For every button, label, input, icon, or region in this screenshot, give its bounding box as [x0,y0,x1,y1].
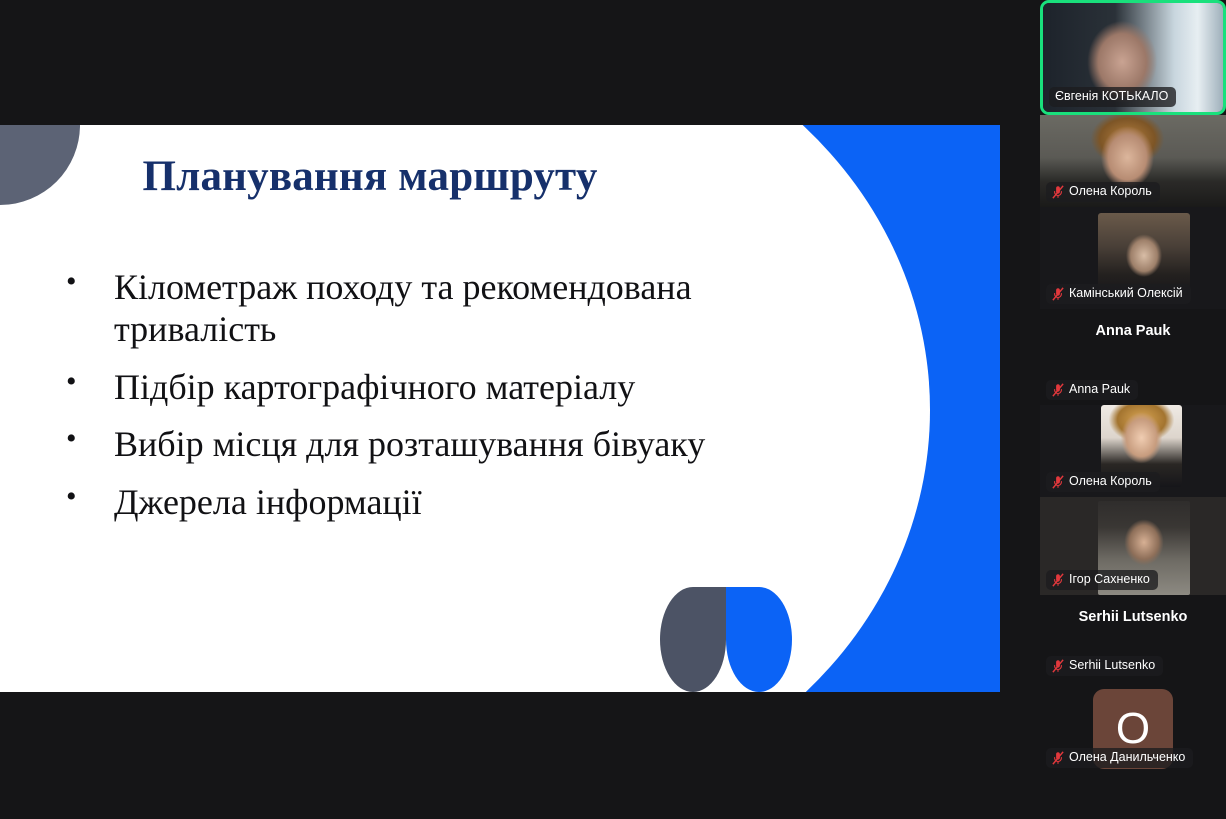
participant-name: Олена Король [1069,184,1152,199]
participant-name: Serhii Lutsenko [1069,658,1155,673]
zoom-meeting-window: Планування маршруту Кілометраж походу та… [0,0,1226,819]
participant-name-pill: Олена Король [1046,182,1160,202]
participant-name: Anna Pauk [1069,382,1130,397]
slide-bullet-list: Кілометраж походу та рекомендована трива… [58,267,858,540]
participant-name-pill: Serhii Lutsenko [1046,656,1163,676]
participant-tile-anna-pauk[interactable]: Anna Pauk Anna Pauk [1040,309,1226,405]
participant-name-pill: Євгенія КОТЬКАЛО [1049,87,1176,107]
slide-bullet-item: Підбір картографічного матеріалу [58,367,858,409]
mic-muted-icon [1052,573,1064,587]
participant-name: Олена Данильченко [1069,750,1185,765]
participant-tile-serhii-lutsenko[interactable]: Serhii Lutsenko Serhii Lutsenko [1040,595,1226,681]
participant-name-pill: Олена Король [1046,472,1160,492]
slide-title: Планування маршруту [0,152,1000,201]
participant-filmstrip[interactable]: Євгенія КОТЬКАЛО Олена Король [1040,0,1226,819]
mic-muted-icon [1052,383,1064,397]
participant-name: Євгенія КОТЬКАЛО [1055,89,1168,104]
participant-tile-evgeniia-kotkalo[interactable]: Євгенія КОТЬКАЛО [1040,0,1226,115]
participant-name-pill: Камінський Олексій [1046,284,1191,304]
participant-centre-name: Anna Pauk [1040,323,1226,339]
mic-muted-icon [1052,185,1064,199]
mic-muted-icon [1052,751,1064,765]
video-feed [1098,213,1190,295]
participant-name-pill: Олена Данильченко [1046,748,1193,768]
participant-tile-olena-danylchenko[interactable]: О Олена Данильченко [1040,681,1226,773]
mic-muted-icon [1052,287,1064,301]
presentation-slide: Планування маршруту Кілометраж походу та… [0,125,1000,692]
slide-content: Планування маршруту Кілометраж походу та… [0,125,1000,692]
participant-name-pill: Anna Pauk [1046,380,1138,400]
avatar-initial: О [1116,704,1150,754]
participant-tile-ihor-sakhnenko[interactable]: Ігор Сахненко [1040,497,1226,595]
mic-muted-icon [1052,659,1064,673]
participant-name-pill: Ігор Сахненко [1046,570,1158,590]
slide-bullet-item: Джерела інформації [58,482,858,524]
shared-screen-stage: Планування маршруту Кілометраж походу та… [0,0,1040,819]
participant-name: Ігор Сахненко [1069,572,1150,587]
slide-bullet-item: Кілометраж походу та рекомендована трива… [58,267,858,351]
participant-name: Камінський Олексій [1069,286,1183,301]
mic-muted-icon [1052,475,1064,489]
participant-centre-name: Serhii Lutsenko [1040,609,1226,625]
participant-name: Олена Король [1069,474,1152,489]
slide-bullet-item: Вибір місця для розташування бівуаку [58,424,858,466]
participant-tile-olena-korol-1[interactable]: Олена Король [1040,115,1226,207]
participant-tile-kaminskyi-oleksii[interactable]: Камінський Олексій [1040,207,1226,309]
participant-tile-olena-korol-2[interactable]: Олена Король [1040,405,1226,497]
